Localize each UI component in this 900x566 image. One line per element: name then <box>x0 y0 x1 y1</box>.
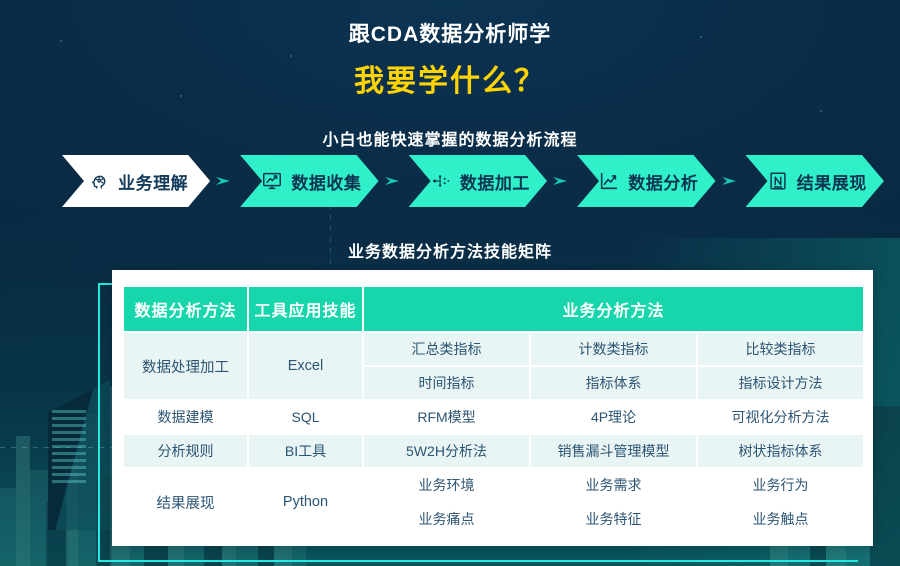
column-header-tool: 工具应用技能 <box>248 286 363 332</box>
chevron-right-arrow-icon <box>384 173 404 189</box>
table-header-row: 数据分析方法 工具应用技能 业务分析方法 <box>123 286 864 332</box>
flow-step-4[interactable]: 数据分析 <box>577 155 715 207</box>
cell-business: 比较类指标 <box>697 332 864 366</box>
flow-step-2-label: 数据收集 <box>291 169 361 194</box>
cell-business: 指标设计方法 <box>697 366 864 400</box>
cell-tool: SQL <box>248 400 363 434</box>
page-title-large: 我要学什么？ <box>0 56 900 100</box>
cell-method: 分析规则 <box>123 434 248 468</box>
page-subtitle: 小白也能快速掌握的数据分析流程 <box>0 126 900 150</box>
flow-step-1-label: 业务理解 <box>118 169 188 194</box>
cell-business: RFM模型 <box>363 400 530 434</box>
flow-step-3-label: 数据加工 <box>460 169 530 194</box>
matrix-title: 业务数据分析方法技能矩阵 <box>0 238 900 262</box>
cell-business: 业务行为 <box>697 468 864 502</box>
cell-method: 数据建模 <box>123 400 248 434</box>
cell-business: 业务痛点 <box>363 502 530 536</box>
cell-business: 业务特征 <box>530 502 697 536</box>
matrix-panel: 数据分析方法 工具应用技能 业务分析方法 数据处理加工 Excel 汇总类指标 … <box>112 270 873 546</box>
flow-step-5-label: 结果展现 <box>797 169 867 194</box>
cell-business: 计数类指标 <box>530 332 697 366</box>
cell-tool: Excel <box>248 332 363 400</box>
flow-separator-3 <box>547 173 577 189</box>
process-flow: 业务理解 数据收集 数据加工 <box>62 155 884 207</box>
cell-method: 结果展现 <box>123 468 248 536</box>
table-row: 分析规则 BI工具 5W2H分析法 销售漏斗管理模型 树状指标体系 <box>123 434 864 468</box>
cell-business: 业务环境 <box>363 468 530 502</box>
chevron-right-arrow-icon <box>215 173 235 189</box>
flow-step-3[interactable]: 数据加工 <box>409 155 547 207</box>
skills-matrix-table: 数据分析方法 工具应用技能 业务分析方法 数据处理加工 Excel 汇总类指标 … <box>122 285 865 537</box>
tower-windows <box>52 410 86 502</box>
cell-tool: Python <box>248 468 363 536</box>
cell-business: 业务触点 <box>697 502 864 536</box>
cell-business: 指标体系 <box>530 366 697 400</box>
cell-business: 可视化分析方法 <box>697 400 864 434</box>
page-title-small: 跟CDA数据分析师学 <box>0 18 900 48</box>
skyline-bar <box>0 488 16 566</box>
cell-business: 销售漏斗管理模型 <box>530 434 697 468</box>
header-block: 跟CDA数据分析师学 我要学什么？ 小白也能快速掌握的数据分析流程 <box>0 0 900 150</box>
flow-separator-2 <box>379 173 409 189</box>
data-nodes-icon <box>430 170 452 192</box>
monitor-chart-icon <box>261 170 283 192</box>
cell-tool: BI工具 <box>248 434 363 468</box>
flow-separator-1 <box>210 173 240 189</box>
flow-step-5[interactable]: 结果展现 <box>746 155 884 207</box>
flow-step-1[interactable]: 业务理解 <box>62 155 210 207</box>
brain-head-icon <box>88 170 110 192</box>
skyline-bar <box>16 436 30 566</box>
line-chart-icon <box>598 170 620 192</box>
table-row: 数据处理加工 Excel 汇总类指标 计数类指标 比较类指标 <box>123 332 864 366</box>
chevron-right-arrow-icon <box>552 173 572 189</box>
cell-business: 树状指标体系 <box>697 434 864 468</box>
cell-business: 5W2H分析法 <box>363 434 530 468</box>
cell-business: 4P理论 <box>530 400 697 434</box>
chevron-right-arrow-icon <box>721 173 741 189</box>
table-row: 数据建模 SQL RFM模型 4P理论 可视化分析方法 <box>123 400 864 434</box>
cell-method: 数据处理加工 <box>123 332 248 400</box>
column-header-method: 数据分析方法 <box>123 286 248 332</box>
cell-business: 时间指标 <box>363 366 530 400</box>
cell-business: 业务需求 <box>530 468 697 502</box>
column-header-business: 业务分析方法 <box>363 286 864 332</box>
flow-step-4-label: 数据分析 <box>628 169 698 194</box>
flow-step-2[interactable]: 数据收集 <box>240 155 378 207</box>
cell-business: 汇总类指标 <box>363 332 530 366</box>
table-row: 结果展现 Python 业务环境 业务需求 业务行为 <box>123 468 864 502</box>
skyline-bar <box>870 406 900 566</box>
report-page-icon <box>767 170 789 192</box>
flow-separator-4 <box>716 173 746 189</box>
